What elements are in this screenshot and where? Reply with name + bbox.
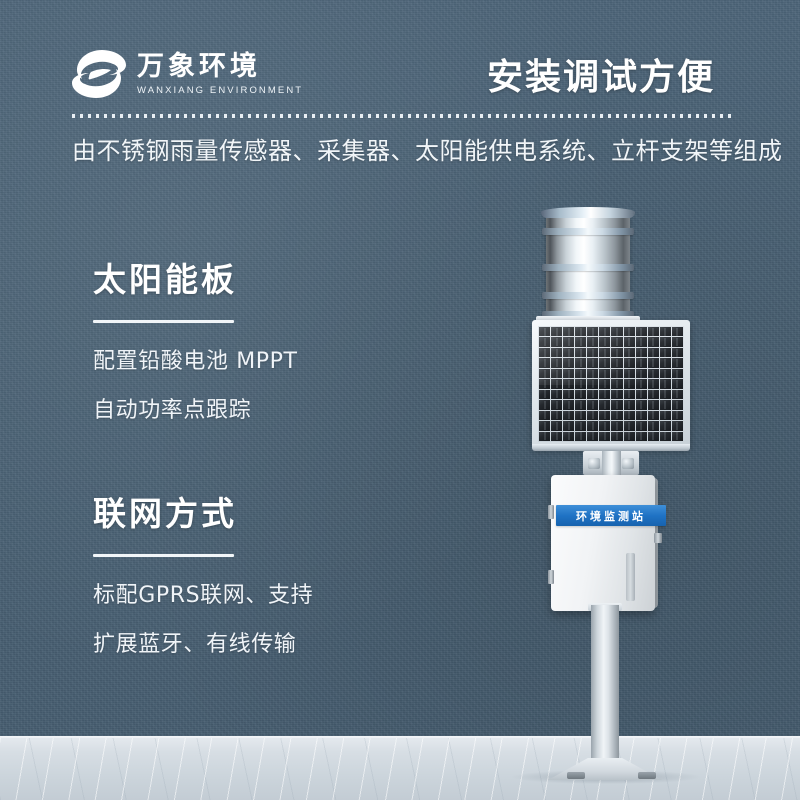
- product-banner: 万象环境 WANXIANG ENVIRONMENT 安装调试方便 由不锈钢雨量传…: [0, 0, 800, 800]
- feature-line: 标配GPRS联网、支持: [93, 577, 313, 609]
- feature-rule: [93, 320, 234, 323]
- wanxiang-swirl-logo-icon: [72, 48, 128, 100]
- brand-name-cn: 万象环境: [137, 53, 303, 80]
- feature-title: 太阳能板: [93, 253, 298, 301]
- dotted-divider: [72, 114, 735, 118]
- floor-surface: [0, 738, 800, 800]
- feature-rule: [93, 554, 234, 557]
- brand-name-en: WANXIANG ENVIRONMENT: [137, 86, 303, 96]
- subtitle: 由不锈钢雨量传感器、采集器、太阳能供电系统、立杆支架等组成: [72, 131, 783, 166]
- feature-line: 扩展蓝牙、有线传输: [93, 626, 313, 658]
- feature-block-solar-panel: 太阳能板 配置铅酸电池 MPPT 自动功率点跟踪: [93, 253, 298, 424]
- headline: 安装调试方便: [487, 48, 715, 100]
- feature-line: 配置铅酸电池 MPPT: [93, 343, 298, 375]
- feature-line: 自动功率点跟踪: [93, 392, 298, 424]
- feature-title: 联网方式: [93, 487, 313, 535]
- brand-logo: 万象环境 WANXIANG ENVIRONMENT: [72, 48, 303, 100]
- feature-block-network: 联网方式 标配GPRS联网、支持 扩展蓝牙、有线传输: [93, 487, 313, 658]
- brand-text: 万象环境 WANXIANG ENVIRONMENT: [137, 53, 303, 96]
